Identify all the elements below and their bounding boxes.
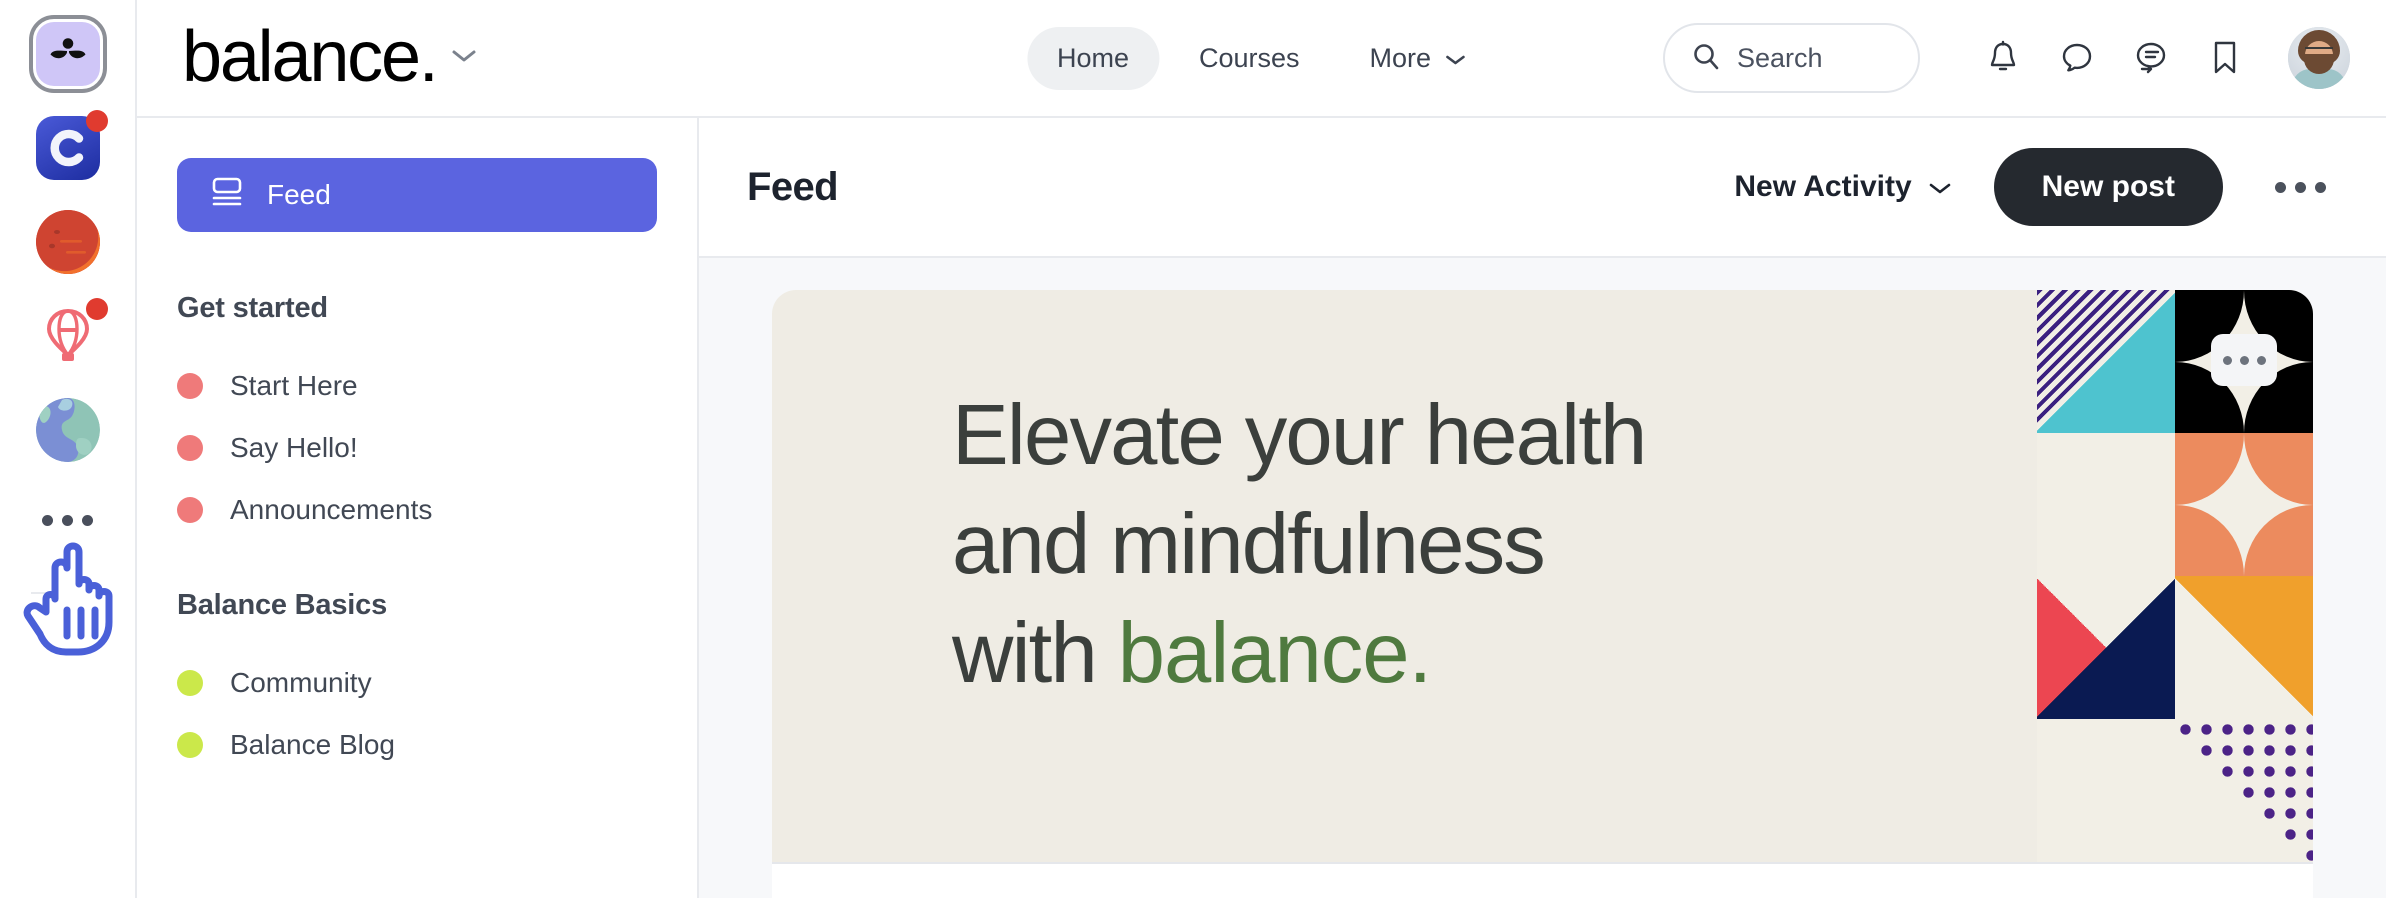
sidebar-item-say-hello[interactable]: Say Hello! (177, 417, 657, 479)
chat-bubble-icon[interactable] (2042, 23, 2112, 93)
bullet-icon (177, 670, 203, 696)
sidebar-group-title: Get started (177, 292, 657, 325)
nav-label: More (1370, 43, 1432, 74)
notifications-bell-icon[interactable] (1968, 23, 2038, 93)
search-icon (1691, 41, 1721, 76)
sidebar-item-feed[interactable]: Feed (177, 158, 657, 232)
dot (62, 515, 73, 526)
search-input[interactable]: Search (1663, 23, 1920, 93)
content-more-options-button[interactable] (2261, 168, 2340, 207)
chevron-down-icon[interactable] (451, 48, 477, 69)
sidebar-item-label: Start Here (230, 370, 358, 402)
nav-item-home[interactable]: Home (1027, 27, 1159, 90)
pattern-tile-blank-1 (2037, 433, 2175, 576)
dot (2295, 182, 2306, 193)
rail-item-balloon-workspace[interactable] (32, 300, 104, 372)
sidebar-item-label: Announcements (230, 494, 432, 526)
direct-message-icon[interactable] (2116, 23, 2186, 93)
pattern-tile-orange-triangle (2175, 576, 2313, 719)
dot (42, 515, 53, 526)
feed-post-card-partial (772, 862, 2313, 898)
sidebar-item-start-here[interactable]: Start Here (177, 355, 657, 417)
bullet-icon (177, 435, 203, 461)
add-workspace-button[interactable]: + (48, 616, 88, 656)
sidebar-item-balance-blog[interactable]: Balance Blog (177, 714, 657, 776)
nav-item-courses[interactable]: Courses (1169, 27, 1330, 90)
pattern-tile-blank-2 (2037, 719, 2175, 862)
avatar[interactable] (2288, 27, 2350, 89)
nav-label: Home (1057, 43, 1129, 74)
content-header-actions: New Activity New post (1734, 148, 2340, 226)
top-header-bar: balance. Home Courses More (137, 0, 2386, 118)
hero-headline: Elevate your health and mindfulness with… (952, 382, 1646, 708)
sprout-icon (36, 22, 100, 86)
dot (2257, 356, 2266, 365)
header-actions: Search (1663, 23, 2350, 93)
sidebar-item-label: Feed (267, 179, 331, 211)
sidebar-group-title: Balance Basics (177, 589, 657, 622)
workspace-rail: + (0, 0, 137, 898)
rail-item-planet-workspace[interactable] (32, 206, 104, 278)
sidebar-item-label: Say Hello! (230, 432, 358, 464)
hero-banner-card: Elevate your health and mindfulness with… (772, 290, 2313, 862)
rail-item-circle-c-workspace[interactable] (32, 112, 104, 184)
pattern-tile-orange-petals-top (2175, 433, 2313, 576)
bullet-icon (177, 373, 203, 399)
feed-icon (211, 177, 243, 214)
dot (2315, 182, 2326, 193)
pattern-tile-purple-dots (2175, 719, 2313, 862)
sidebar-group-balance-basics: Balance Basics Community Balance Blog (177, 589, 657, 776)
sidebar-item-announcements[interactable]: Announcements (177, 479, 657, 541)
primary-navigation: Home Courses More (1027, 27, 1496, 90)
nav-item-more[interactable]: More (1340, 27, 1497, 90)
brand-name: balance. (182, 27, 437, 89)
rail-item-balance-workspace[interactable] (32, 18, 104, 90)
rail-divider (31, 592, 105, 594)
hero-brand-word: balance. (1118, 606, 1431, 701)
hero-line-1: Elevate your health (952, 382, 1646, 491)
activity-filter-label: New Activity (1734, 170, 1911, 204)
course-sidebar: Feed Get started Start Here Say Hello! (137, 118, 699, 898)
feed-scroll-pane[interactable]: Elevate your health and mindfulness with… (699, 258, 2386, 898)
pattern-tile-teal-stripes (2037, 290, 2175, 433)
app-root: + balance. Home (0, 0, 2386, 898)
sidebar-item-label: Balance Blog (230, 729, 395, 761)
pattern-tile-red-navy-triangles (2037, 576, 2175, 719)
planet-icon (36, 210, 100, 274)
sidebar-group-get-started: Get started Start Here Say Hello! Announ… (177, 292, 657, 541)
new-post-button[interactable]: New post (1994, 148, 2223, 226)
chevron-down-icon (1444, 43, 1466, 74)
page-title: Feed (747, 165, 838, 210)
hero-more-options-button[interactable] (2211, 334, 2277, 386)
dot (2240, 356, 2249, 365)
unread-badge (86, 298, 108, 320)
chevron-down-icon (1928, 170, 1952, 204)
dot (2275, 182, 2286, 193)
brand-logo[interactable]: balance. (182, 27, 477, 89)
hero-line-2: and mindfulness (952, 491, 1646, 600)
rail-more-button[interactable] (32, 500, 104, 540)
sidebar-item-community[interactable]: Community (177, 652, 657, 714)
content-area: Feed New Activity New post (699, 118, 2386, 898)
globe-icon (36, 398, 100, 462)
unread-badge (86, 110, 108, 132)
dot (82, 515, 93, 526)
bullet-icon (177, 732, 203, 758)
content-header: Feed New Activity New post (699, 118, 2386, 258)
hero-line-3-prefix: with (952, 606, 1118, 701)
body-split: Feed Get started Start Here Say Hello! (137, 118, 2386, 898)
search-placeholder: Search (1737, 43, 1823, 74)
sidebar-item-label: Community (230, 667, 372, 699)
bookmark-icon[interactable] (2190, 23, 2260, 93)
rail-item-globe-workspace[interactable] (32, 394, 104, 466)
dot (2223, 356, 2232, 365)
activity-filter-select[interactable]: New Activity (1734, 170, 1951, 204)
nav-label: Courses (1199, 43, 1300, 74)
bullet-icon (177, 497, 203, 523)
hero-line-3: with balance. (952, 600, 1646, 709)
main-column: balance. Home Courses More (137, 0, 2386, 898)
